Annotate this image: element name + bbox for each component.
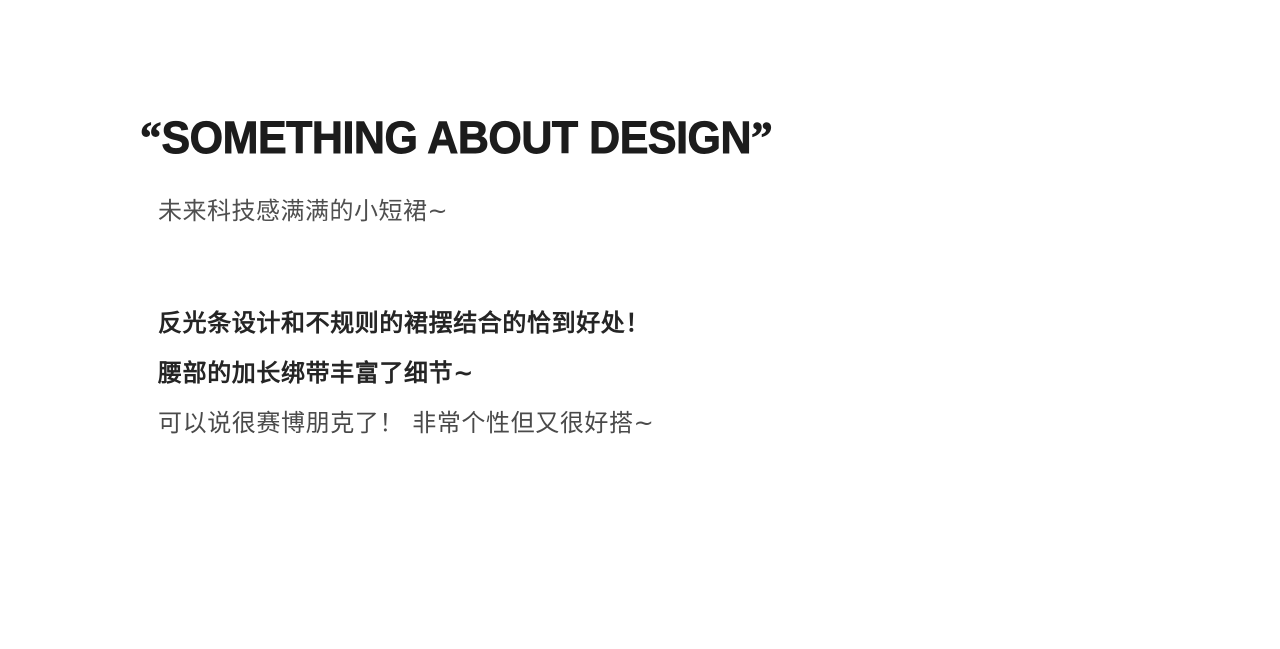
page-canvas: “SOMETHING ABOUT DESIGN” 未来科技感满满的小短裙~ 反光… — [0, 0, 1280, 649]
description-line-3: 可以说很赛博朋克了！ 非常个性但又很好搭~ — [158, 398, 1058, 448]
page-title-text: SOMETHING ABOUT DESIGN — [161, 112, 751, 163]
description-line-2: 腰部的加长绑带丰富了细节~ — [158, 348, 1058, 398]
description-line-1: 反光条设计和不规则的裙摆结合的恰到好处！ — [158, 298, 1058, 348]
subtitle-text: 未来科技感满满的小短裙~ — [158, 195, 448, 227]
opening-quote-mark: “ — [140, 113, 161, 163]
description-block: 反光条设计和不规则的裙摆结合的恰到好处！ 腰部的加长绑带丰富了细节~ 可以说很赛… — [158, 298, 1058, 448]
closing-quote-mark: ” — [751, 113, 772, 163]
page-title: “SOMETHING ABOUT DESIGN” — [140, 112, 772, 164]
